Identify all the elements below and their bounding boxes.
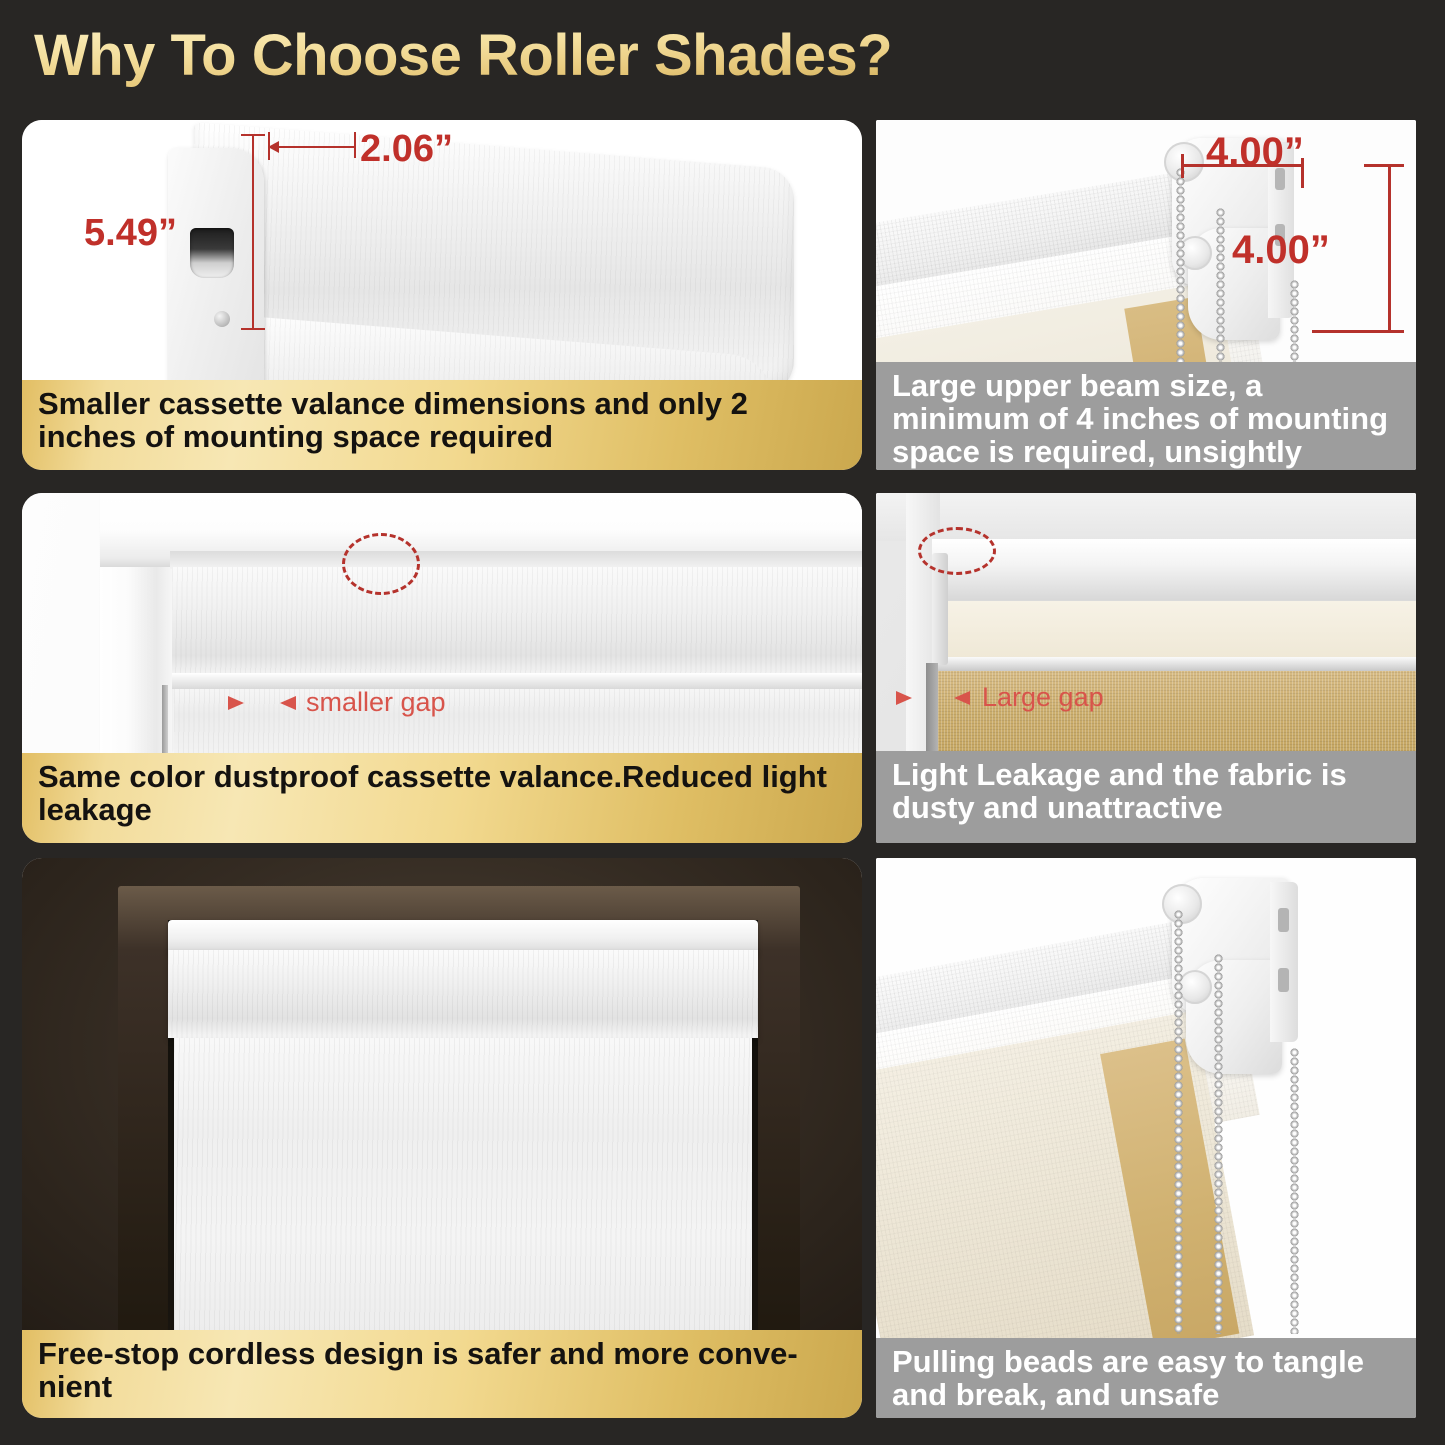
panel-3-photo: smaller gap xyxy=(22,493,862,753)
beam-height-tick-bottom xyxy=(1312,330,1404,333)
height-dim-line xyxy=(252,134,254,330)
panel-2-photo: 4.00” 4.00” xyxy=(876,120,1416,362)
highlight-ellipse-icon xyxy=(342,533,420,595)
bead-chain-right xyxy=(1290,280,1299,362)
panel-4-photo: Large gap xyxy=(876,493,1416,751)
bead-chain-left xyxy=(1174,910,1183,1334)
panel-2: 4.00” 4.00” Large upper beam size, a min… xyxy=(876,120,1416,470)
panel-6-photo xyxy=(876,858,1416,1338)
width-dim-extension-right xyxy=(354,132,356,158)
gap-arrow-left xyxy=(228,696,244,710)
gap-arrow-right xyxy=(954,691,970,705)
cassette-valance xyxy=(168,950,758,1038)
width-dim-label: 2.06” xyxy=(360,128,453,171)
roller-shade-fabric xyxy=(174,1038,752,1330)
panel-3-caption: Same color dustproof cassette valance.Re… xyxy=(22,753,862,843)
screw-icon xyxy=(214,311,230,327)
bead-chain-right xyxy=(1290,1048,1299,1334)
panel-1-caption: Smaller cassette valance dimensions and … xyxy=(22,380,862,470)
beam-width-tick-left xyxy=(1181,154,1184,178)
page-title: Why To Choose Roller Shades? xyxy=(34,22,892,89)
roller-tube xyxy=(932,539,1416,605)
control-slot-icon xyxy=(190,228,234,278)
mounting-plate xyxy=(1270,882,1298,1042)
panel-5-photo xyxy=(22,858,862,1330)
beam-height-dim-line xyxy=(1388,164,1391,332)
cassette-valance xyxy=(172,567,862,675)
height-dim-tick-top xyxy=(241,134,265,136)
beam-width-label: 4.00” xyxy=(1206,130,1304,175)
panel-6: Pulling beads are easy to tangle and bre… xyxy=(876,858,1416,1418)
bead-chain-left xyxy=(1176,168,1185,362)
bead-chain-middle xyxy=(1214,954,1223,1334)
panel-4-caption: Light Leakage and the fabric is dusty an… xyxy=(876,751,1416,843)
panel-5: Free-stop cordless design is safer and m… xyxy=(22,858,862,1418)
highlight-ellipse-icon xyxy=(918,527,996,575)
beam-height-tick-top xyxy=(1364,164,1404,167)
panel-1: 2.06” 5.49” Smaller cassette valance dim… xyxy=(22,120,862,470)
fabric-cream-band xyxy=(938,601,1416,659)
panel-4: Large gap Light Leakage and the fabric i… xyxy=(876,493,1416,843)
shade-fabric xyxy=(174,689,862,753)
gap-label: Large gap xyxy=(982,682,1104,713)
panel-2-caption: Large upper beam size, a minimum of 4 in… xyxy=(876,362,1416,470)
beam-height-label: 4.00” xyxy=(1232,228,1330,273)
height-dim-label: 5.49” xyxy=(84,212,177,255)
side-gap xyxy=(162,685,168,753)
width-dim-line xyxy=(270,146,356,148)
side-gap xyxy=(926,663,938,751)
panel-5-caption: Free-stop cordless design is safer and m… xyxy=(22,1330,862,1418)
panel-1-photo: 2.06” 5.49” xyxy=(22,120,862,382)
panel-3: smaller gap Same color dustproof cassett… xyxy=(22,493,862,843)
panel-6-caption: Pulling beads are easy to tangle and bre… xyxy=(876,1338,1416,1418)
fabric-rail xyxy=(936,657,1416,671)
height-dim-tick-bottom xyxy=(241,328,265,330)
bead-chain-middle xyxy=(1216,208,1225,362)
width-dim-arrow-left xyxy=(268,141,279,153)
roller-end-coil-lower xyxy=(1178,970,1212,1004)
valance-lip xyxy=(172,673,862,689)
gap-arrow-left xyxy=(896,691,912,705)
gap-label: smaller gap xyxy=(306,687,446,718)
gap-arrow-right xyxy=(280,696,296,710)
head-rail xyxy=(168,920,758,954)
